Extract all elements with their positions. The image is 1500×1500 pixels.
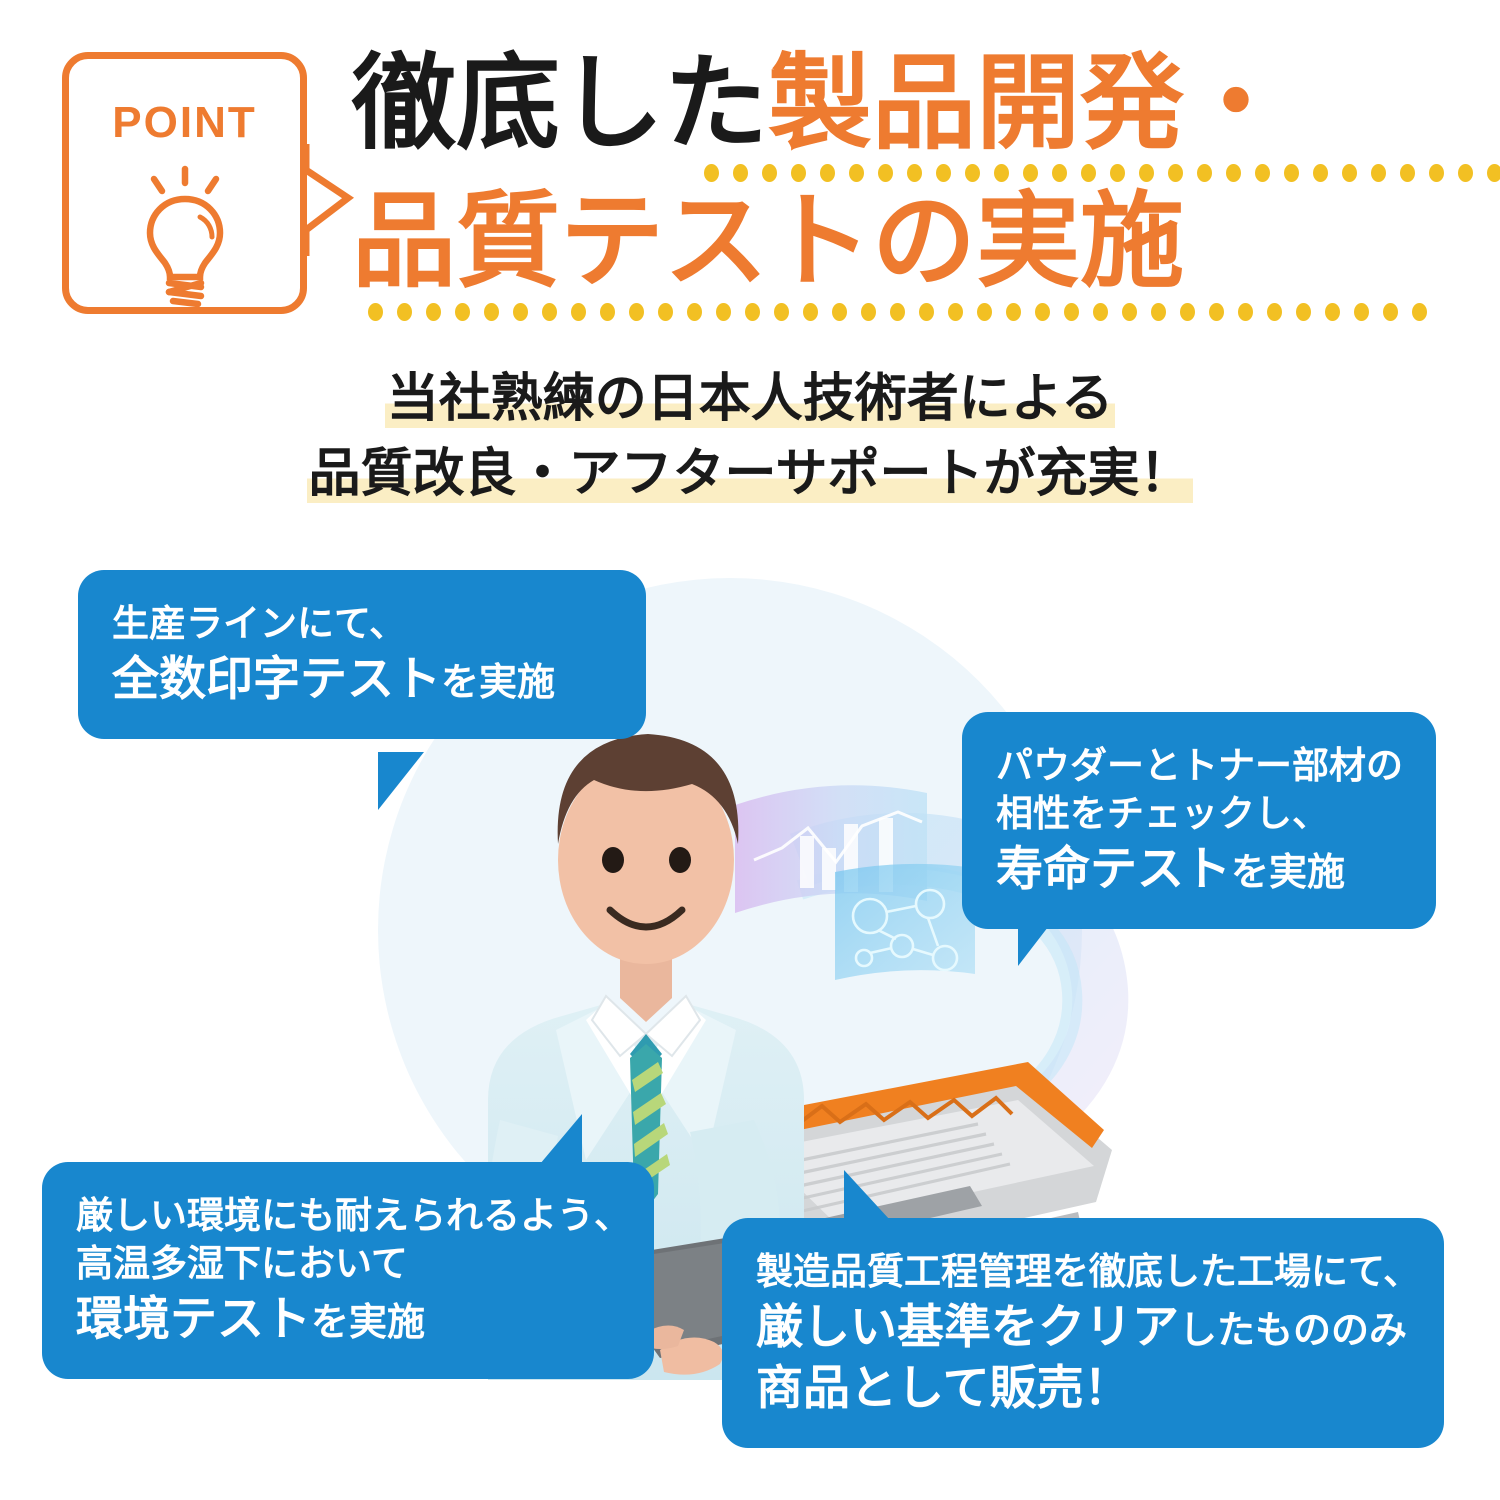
underline-dot (832, 303, 847, 321)
bubble2-emphasis: 寿命テスト (996, 842, 1231, 895)
underline-dot (1093, 303, 1108, 321)
underline-dot (1023, 164, 1038, 182)
underline-dot (803, 303, 818, 321)
bubble3-line-2: 高温多湿下において (76, 1240, 620, 1288)
bubble4-suffix: したもののみ (1179, 1310, 1407, 1352)
underline-dot (426, 303, 441, 321)
bubble4-line-2: 厳しい基準をクリアしたもののみ (756, 1296, 1410, 1357)
underline-dot (1110, 164, 1125, 182)
bubble2-suffix: を実施 (1231, 852, 1345, 894)
underline-dot (542, 303, 557, 321)
headline-line1-orange: 製品開発・ (768, 46, 1288, 162)
underline-dot (1429, 164, 1444, 182)
bubble1-tail-icon (378, 752, 424, 810)
underline-dot (1458, 164, 1473, 182)
underline-dot (936, 164, 951, 182)
underline-dot (977, 303, 992, 321)
bubble1-suffix: を実施 (441, 662, 555, 704)
bubble3-suffix: を実施 (311, 1302, 425, 1344)
underline-dot (820, 164, 835, 182)
point-badge: POINT (62, 52, 307, 314)
bubble3-line-3: 環境テストを実施 (76, 1288, 620, 1349)
bubble3-emphasis: 環境テスト (76, 1292, 311, 1345)
underline-dot (513, 303, 528, 321)
underline-dot (484, 303, 499, 321)
bubble3-line-1: 厳しい環境にも耐えられるよう、 (76, 1192, 620, 1240)
bubble4-line-3: 商品として販売！ (756, 1357, 1410, 1418)
underline-dot (774, 303, 789, 321)
underline-dot (716, 303, 731, 321)
lightbulb-icon (120, 161, 250, 316)
bubble-life-test: パウダーとトナー部材の 相性をチェックし、 寿命テストを実施 (962, 712, 1436, 929)
bubble1-line-1: 生産ラインにて、 (112, 600, 612, 648)
infographic-canvas: POINT 徹底した製品開発・ (0, 0, 1500, 1500)
underline-dot (762, 164, 777, 182)
underline-dot (849, 164, 864, 182)
underline-dot (687, 303, 702, 321)
underline-dot (658, 303, 673, 321)
underline-dot (791, 164, 806, 182)
subtitle-line-1: 当社熟練の日本人技術者による (0, 362, 1500, 437)
underline-dot (1325, 303, 1340, 321)
bubble1-line-2: 全数印字テストを実施 (112, 648, 612, 709)
bubble2-line-1: パウダーとトナー部材の (996, 742, 1402, 790)
underline-dot (1064, 303, 1079, 321)
underline-dot (1383, 303, 1398, 321)
underline-dot (919, 303, 934, 321)
underline-dot (1209, 303, 1224, 321)
subtitle-line1-text: 当社熟練の日本人技術者による (385, 370, 1115, 428)
underline-dot (704, 164, 719, 182)
underline-dot (1151, 303, 1166, 321)
underline-dot (1226, 164, 1241, 182)
underline-dot (1139, 164, 1154, 182)
subtitle-line2-text: 品質改良・アフターサポートが充実！ (307, 445, 1194, 503)
underline-dot (1371, 164, 1386, 182)
underline-dot (600, 303, 615, 321)
underline-dot (1180, 303, 1195, 321)
bubble1-emphasis: 全数印字テスト (112, 652, 441, 705)
underline-dot (1081, 164, 1096, 182)
underline-dot (1487, 164, 1500, 182)
bubble4-emphasis: 厳しい基準をクリア (756, 1300, 1179, 1353)
underline-dot (1342, 164, 1357, 182)
underline-dot (1267, 303, 1282, 321)
underline-dot (1284, 164, 1299, 182)
underline-dot (1412, 303, 1427, 321)
underline-dot (1052, 164, 1067, 182)
underline-dot (907, 164, 922, 182)
bubble2-line-2: 相性をチェックし、 (996, 790, 1402, 838)
underline-dot (1255, 164, 1270, 182)
underline-dot (1197, 164, 1212, 182)
underline-dot (733, 164, 748, 182)
headline-line1-black: 徹底した (352, 46, 768, 162)
underline-dot (1313, 164, 1328, 182)
underline-dot (455, 303, 470, 321)
headline-line-2: 品質テストの実施 (352, 186, 1442, 298)
underline-dot (994, 164, 1009, 182)
subtitle-line-2: 品質改良・アフターサポートが充実！ (0, 437, 1500, 512)
bubble4-tail-icon (844, 1170, 890, 1220)
headline-dotted-underline-2 (368, 303, 1442, 323)
underline-dot (1400, 164, 1415, 182)
underline-dot (878, 164, 893, 182)
underline-dot (890, 303, 905, 321)
bubble4-line-1: 製造品質工程管理を徹底した工場にて、 (756, 1248, 1410, 1296)
bubble2-tail-icon (1018, 914, 1058, 966)
bubble2-line-3: 寿命テストを実施 (996, 838, 1402, 899)
underline-dot (965, 164, 980, 182)
underline-dot (1122, 303, 1137, 321)
underline-dot (1006, 303, 1021, 321)
bubble-environment-test: 厳しい環境にも耐えられるよう、 高温多湿下において 環境テストを実施 (42, 1162, 654, 1379)
underline-dot (1354, 303, 1369, 321)
underline-dot (1035, 303, 1050, 321)
underline-dot (1296, 303, 1311, 321)
underline-dot (861, 303, 876, 321)
bubble3-tail-icon (540, 1114, 582, 1164)
underline-dot (571, 303, 586, 321)
molecule-panel (835, 864, 975, 980)
headline: 徹底した製品開発・ 品質テストの実施 (352, 48, 1442, 323)
underline-dot (1238, 303, 1253, 321)
underline-dot (745, 303, 760, 321)
point-badge-label: POINT (112, 101, 256, 145)
underline-dot (397, 303, 412, 321)
headline-dotted-underline-1 (704, 164, 1442, 184)
headline-line-1: 徹底した製品開発・ (352, 48, 1442, 160)
bubble-factory-standard: 製造品質工程管理を徹底した工場にて、 厳しい基準をクリアしたもののみ 商品として… (722, 1218, 1444, 1448)
underline-dot (629, 303, 644, 321)
subtitle: 当社熟練の日本人技術者による 品質改良・アフターサポートが充実！ (0, 362, 1500, 513)
underline-dot (368, 303, 383, 321)
underline-dot (1168, 164, 1183, 182)
bubble-print-test: 生産ラインにて、 全数印字テストを実施 (78, 570, 646, 739)
underline-dot (948, 303, 963, 321)
